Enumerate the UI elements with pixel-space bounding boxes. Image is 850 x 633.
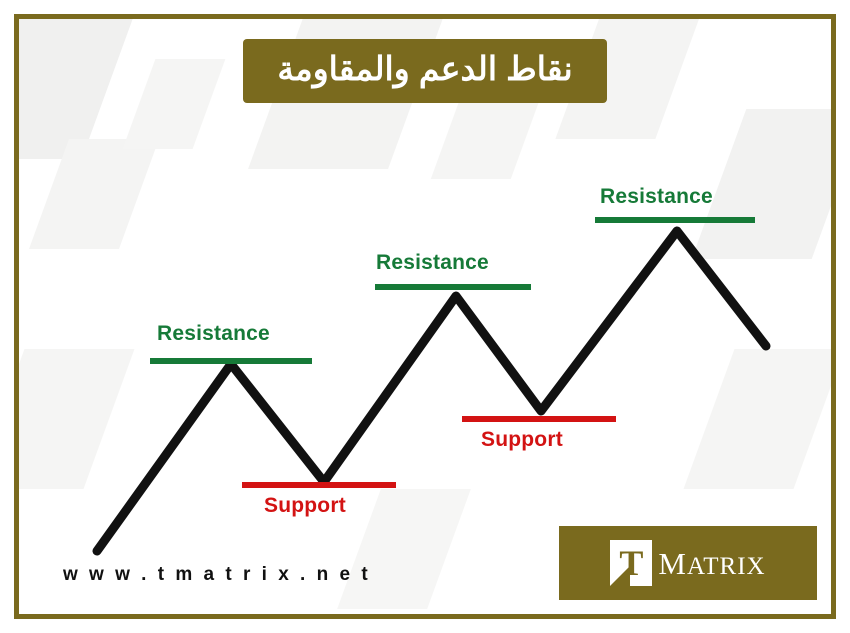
brand-logo: T MATRIX xyxy=(559,526,817,600)
poster: نقاط الدعم والمقاومة Resistance Resistan… xyxy=(0,0,850,633)
resistance-label-2: Resistance xyxy=(376,251,489,275)
support-label-1: Support xyxy=(264,494,346,518)
resistance-label-3: Resistance xyxy=(600,185,713,209)
poster-frame: نقاط الدعم والمقاومة Resistance Resistan… xyxy=(14,14,836,619)
logo-word-rest: ATRIX xyxy=(687,553,766,580)
logo-word-bold: M xyxy=(658,546,687,581)
price-line xyxy=(97,231,766,551)
website-text: w w w . t m a t r i x . n e t xyxy=(63,564,371,586)
logo-wordmark: MATRIX xyxy=(658,548,765,579)
resistance-label-1: Resistance xyxy=(157,322,270,346)
support-label-2: Support xyxy=(481,428,563,452)
logo-t-icon: T xyxy=(610,540,652,586)
